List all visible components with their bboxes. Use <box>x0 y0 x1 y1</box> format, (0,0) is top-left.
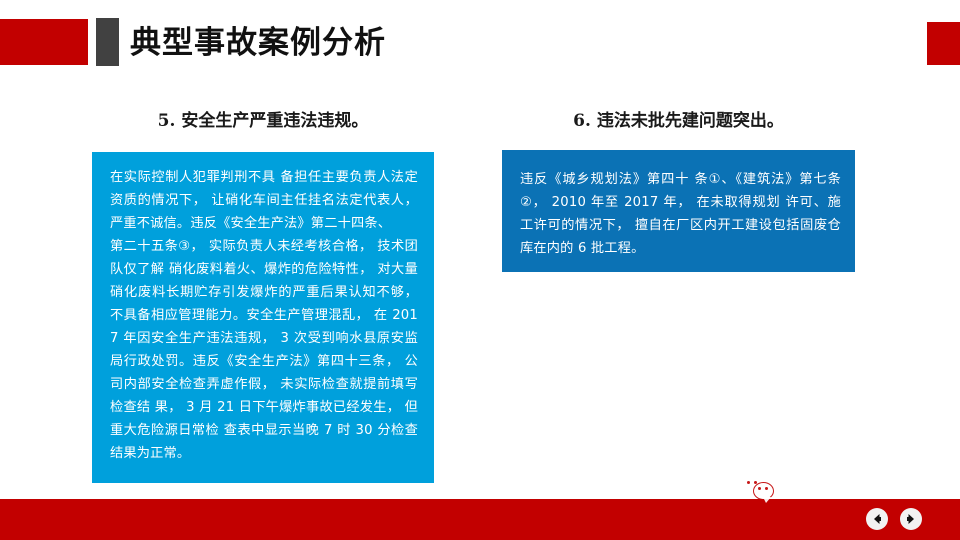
content-box-left: 在实际控制人犯罪判刑不具 备担任主要负责人法定资质的情况下， 让硝化车间主任挂名… <box>92 152 434 483</box>
footer-red-bar <box>0 499 960 540</box>
section-heading-6: 6. 违法未批先建问题突出。 <box>502 106 855 131</box>
slide-navigation <box>866 508 922 530</box>
arrow-left-icon[interactable] <box>866 508 888 530</box>
arrow-right-icon[interactable] <box>900 508 922 530</box>
watermark-label: 每日安全生产 <box>781 476 901 501</box>
page-title: 典型事故案例分析 <box>130 20 386 66</box>
paragraph: 违反《城乡规划法》第四十 条①、《建筑法》第七条②， 2010 年至 2017 … <box>520 168 841 260</box>
paragraph: 在实际控制人犯罪判刑不具 备担任主要负责人法定资质的情况下， 让硝化车间主任挂名… <box>110 166 418 235</box>
wechat-logo-icon <box>742 476 774 500</box>
paragraph: 第二十五条③， 实际负责人未经考核合格， 技术团队仅了解 硝化废料着火、爆炸的危… <box>110 235 418 465</box>
content-box-right: 违反《城乡规划法》第四十 条①、《建筑法》第七条②， 2010 年至 2017 … <box>502 150 855 272</box>
header-red-accent-left <box>0 19 88 65</box>
watermark: 每日安全生产 <box>742 474 901 502</box>
header-gray-bar <box>96 18 119 66</box>
section-heading-5: 5. 安全生产严重违法违规。 <box>92 106 434 131</box>
slide-canvas: 典型事故案例分析 5. 安全生产严重违法违规。 在实际控制人犯罪判刑不具 备担任… <box>0 0 960 540</box>
header-red-accent-right <box>927 22 960 65</box>
